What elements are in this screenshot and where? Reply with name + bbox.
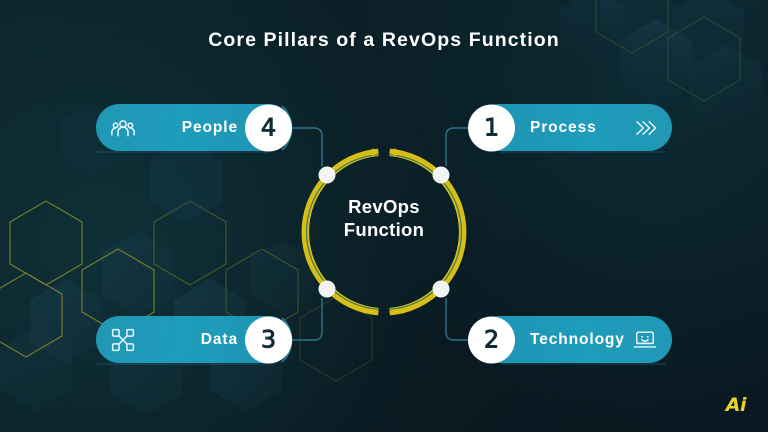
- double-chevron-right-icon: [632, 115, 658, 141]
- pillar-people-number[interactable]: 4: [245, 104, 292, 151]
- pillar-data-label: Data: [201, 331, 238, 349]
- pillar-data-number[interactable]: 3: [245, 316, 292, 363]
- ring-dot-bottom-right: [433, 281, 450, 298]
- pillar-process-number-text: 1: [484, 116, 499, 140]
- pillar-technology-number-text: 2: [484, 328, 499, 352]
- pillar-technology-number[interactable]: 2: [468, 316, 515, 363]
- pillar-people-label: People: [182, 119, 238, 137]
- ring-dot-top-left: [319, 167, 336, 184]
- ring-node-dots: [319, 167, 450, 298]
- pillar-technology-label: Technology: [530, 331, 625, 349]
- network-nodes-icon: [110, 327, 136, 353]
- pillar-data-number-text: 3: [261, 328, 276, 352]
- diagram-graphics: [0, 0, 768, 432]
- page-title: Core Pillars of a RevOps Function: [0, 29, 768, 52]
- ring-dot-bottom-left: [319, 281, 336, 298]
- pillar-process-number[interactable]: 1: [468, 104, 515, 151]
- brand-logo[interactable]: Ai: [726, 394, 746, 416]
- pillar-process-label: Process: [530, 119, 597, 137]
- ring-dot-top-right: [433, 167, 450, 184]
- circle-accent-arcs: [282, 106, 486, 362]
- slide-canvas: Core Pillars of a RevOps Function RevOps…: [0, 0, 768, 432]
- pillar-people-number-text: 4: [261, 116, 276, 140]
- laptop-smiley-icon: [632, 327, 658, 353]
- people-group-icon: [110, 115, 136, 141]
- connector-lines: [289, 128, 479, 340]
